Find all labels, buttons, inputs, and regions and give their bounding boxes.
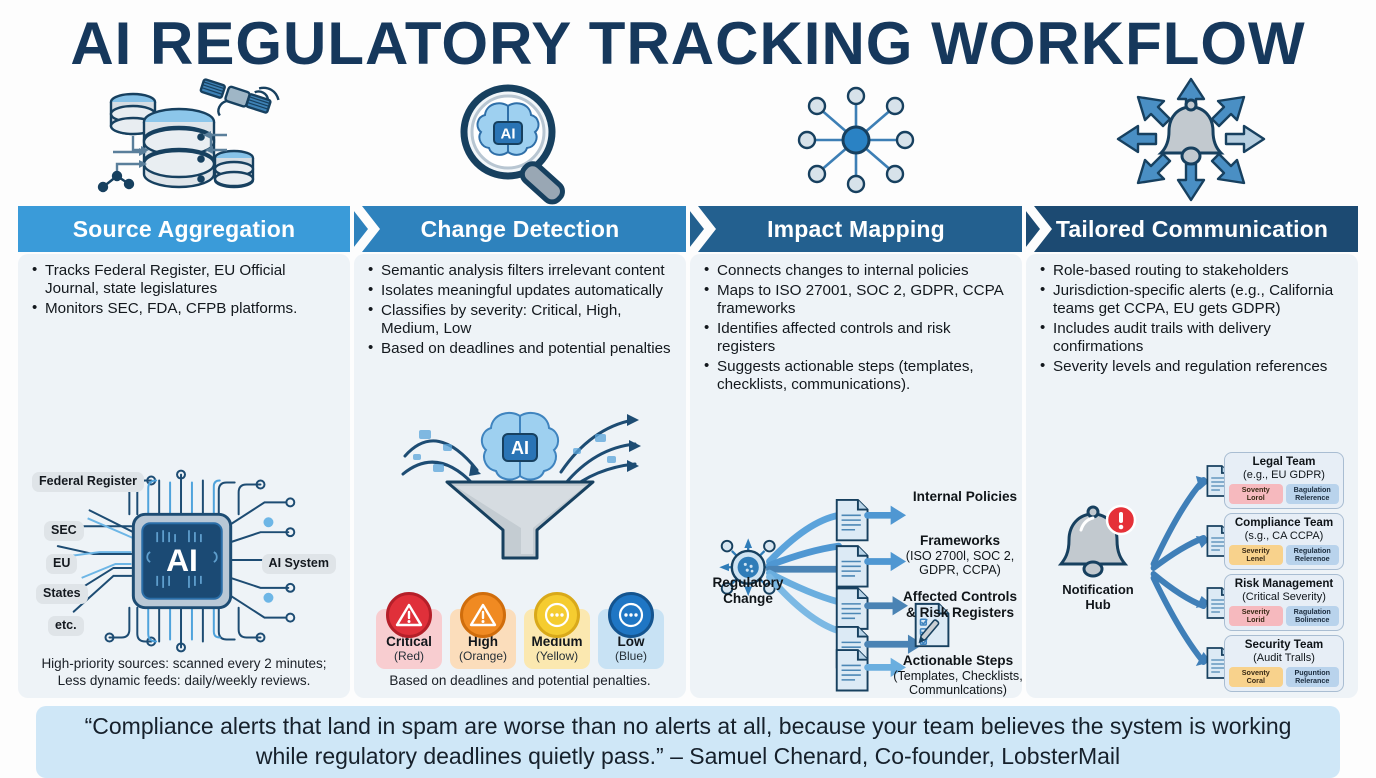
bullet-list-detection: Semantic analysis filters irrelevant con…	[366, 262, 674, 360]
impact-target-title: Internal Policies	[913, 489, 1017, 504]
panel-source-aggregation: Tracks Federal Register, EU Official Jou…	[18, 254, 350, 698]
team-card-security[interactable]: Security Team (Audit Tralls) Soventy Cor…	[1224, 635, 1344, 692]
impact-target-internal-policies: Internal Policies	[900, 489, 1022, 505]
status-badge-regulation: Puguntion Relerance	[1286, 667, 1340, 687]
list-item: Connects changes to internal policies	[702, 262, 1010, 280]
ai-chip-diagram: AI Federal Register SEC EU States	[30, 466, 338, 656]
chevron-right-icon	[686, 206, 720, 252]
tag-label: EU	[53, 556, 70, 570]
team-card-legal[interactable]: Legal Team (e.g., EU GDPR) Soventy Lorol…	[1224, 452, 1344, 509]
stage-header-row: Source Aggregation Change Detection Impa…	[18, 206, 1358, 252]
list-item: Based on deadlines and potential penalti…	[366, 340, 674, 358]
list-item: Severity levels and regulation reference…	[1038, 358, 1346, 376]
impact-target-title: Actionable Steps	[903, 653, 1013, 668]
tag-label: AI System	[269, 556, 329, 570]
severity-badge-row: Critical (Red) High (Orange)	[366, 609, 674, 669]
svg-text:AI: AI	[166, 542, 198, 578]
ellipsis-circle-icon	[534, 592, 580, 638]
source-visual: AI Federal Register SEC EU States	[30, 320, 338, 692]
team-title: Risk Management	[1229, 578, 1339, 591]
icon-cell-source	[18, 80, 353, 205]
impact-source-text: Regulatory Change	[712, 575, 783, 606]
communication-visual: Notification Hub Legal Team (e.g., EU GD…	[1038, 378, 1346, 692]
team-subtitle: (e.g., EU GDPR)	[1229, 469, 1339, 481]
panel-impact-mapping: Connects changes to internal policies Ma…	[690, 254, 1022, 698]
team-card-risk-management[interactable]: Risk Management (Critical Severity) Seve…	[1224, 574, 1344, 631]
impact-target-actionable-steps: Actionable Steps (Templates, Checklists,…	[884, 653, 1022, 698]
tag-label: Federal Register	[39, 474, 137, 488]
severity-high[interactable]: High (Orange)	[450, 609, 516, 669]
source-tag-eu[interactable]: EU	[46, 554, 77, 574]
status-badge-severity: Severity Lorid	[1229, 606, 1283, 626]
bell-alert-icon	[1059, 563, 1137, 580]
list-item: Semantic analysis filters irrelevant con…	[366, 262, 674, 280]
funnel-svg: AI	[385, 410, 655, 560]
status-badge-severity: Soventy Lorol	[1229, 484, 1283, 504]
severity-color-label: (Yellow)	[526, 650, 588, 664]
source-caption: High-priority sources: scanned every 2 m…	[30, 656, 338, 692]
database-aggregation-icon	[91, 80, 281, 205]
routing-diagram: Notification Hub Legal Team (e.g., EU GD…	[1038, 452, 1346, 692]
stage-header-label: Source Aggregation	[73, 216, 296, 243]
list-item: Includes audit trails with delivery conf…	[1038, 320, 1346, 356]
team-badges: Soventy Lorol Bagulation Relerence	[1229, 484, 1339, 504]
bell-broadcast-icon	[1116, 77, 1266, 207]
team-title: Legal Team	[1229, 456, 1339, 469]
warning-triangle-icon	[460, 592, 506, 638]
panel-tailored-communication: Role-based routing to stakeholders Juris…	[1026, 254, 1358, 698]
source-tag-sec[interactable]: SEC	[44, 521, 84, 541]
source-tag-states[interactable]: States	[36, 584, 88, 604]
team-title: Compliance Team	[1229, 517, 1339, 530]
status-badge-regulation: Ragulation Bolinence	[1286, 606, 1340, 626]
detection-visual: AI Critical (Red)	[366, 360, 674, 692]
magnifier-ai-brain-icon: AI	[446, 80, 596, 205]
severity-critical[interactable]: Critical (Red)	[376, 609, 442, 669]
list-item: Isolates meaningful updates automaticall…	[366, 282, 674, 300]
svg-text:AI: AI	[511, 438, 529, 458]
list-item: Jurisdiction-specific alerts (e.g., Cali…	[1038, 282, 1346, 318]
status-badge-severity: Soventy Coral	[1229, 667, 1283, 687]
chevron-right-icon	[1022, 206, 1056, 252]
status-badge-regulation: Bagulation Relerence	[1286, 484, 1340, 504]
team-badges: Severity Lenel Regulation Relerenoe	[1229, 545, 1339, 565]
panel-change-detection: Semantic analysis filters irrelevant con…	[354, 254, 686, 698]
stage-header-label: Impact Mapping	[767, 216, 945, 243]
list-item: Role-based routing to stakeholders	[1038, 262, 1346, 280]
list-item: Tracks Federal Register, EU Official Jou…	[30, 262, 338, 298]
tag-label: SEC	[51, 523, 77, 537]
stage-header-label: Tailored Communication	[1056, 216, 1328, 243]
team-card-compliance[interactable]: Compliance Team (s.g., CA CCPA) Severity…	[1224, 513, 1344, 570]
tag-label: States	[43, 586, 81, 600]
stage-header-change-detection[interactable]: Change Detection	[354, 206, 686, 252]
top-icon-row: AI	[18, 78, 1358, 206]
stage-header-source-aggregation[interactable]: Source Aggregation	[18, 206, 350, 252]
tag-label: etc.	[55, 618, 77, 632]
source-tag-federal-register[interactable]: Federal Register	[32, 472, 144, 492]
impact-mapping-diagram: Regulatory Change Internal Policies Fram…	[702, 457, 1010, 692]
team-title: Security Team	[1229, 639, 1339, 652]
list-item: Monitors SEC, FDA, CFPB platforms.	[30, 300, 338, 318]
severity-color-label: (Blue)	[600, 650, 662, 664]
team-badges: Severity Lorid Ragulation Bolinence	[1229, 606, 1339, 626]
bullet-list-source: Tracks Federal Register, EU Official Jou…	[30, 262, 338, 320]
page-title: AI REGULATORY TRACKING WORKFLOW	[18, 0, 1358, 78]
stage-panel-row: Tracks Federal Register, EU Official Jou…	[18, 254, 1358, 698]
stage-header-impact-mapping[interactable]: Impact Mapping	[690, 206, 1022, 252]
status-badge-regulation: Regulation Relerenoe	[1286, 545, 1340, 565]
detection-caption: Based on deadlines and potential penalti…	[366, 673, 674, 692]
quote-banner: “Compliance alerts that land in spam are…	[36, 706, 1340, 778]
impact-visual: Regulatory Change Internal Policies Fram…	[702, 396, 1010, 692]
severity-medium[interactable]: Medium (Yellow)	[524, 609, 590, 669]
stage-header-tailored-communication[interactable]: Tailored Communication	[1026, 206, 1358, 252]
severity-color-label: (Red)	[378, 650, 440, 664]
svg-text:AI: AI	[500, 125, 515, 142]
icon-cell-impact	[688, 80, 1023, 205]
impact-target-sub: (ISO 2700l, SOC 2, GDPR, CCPA)	[892, 549, 1022, 578]
severity-low[interactable]: Low (Blue)	[598, 609, 664, 669]
team-subtitle: (Audit Tralls)	[1229, 652, 1339, 664]
impact-source-label: Regulatory Change	[702, 575, 794, 607]
list-item: Suggests actionable steps (templates, ch…	[702, 358, 1010, 394]
impact-target-title: Affected Controls & Risk Registers	[903, 589, 1017, 620]
source-tag-ai-system[interactable]: AI System	[262, 554, 336, 574]
bullet-list-impact: Connects changes to internal policies Ma…	[702, 262, 1010, 396]
icon-cell-communication	[1023, 77, 1358, 207]
network-nodes-icon	[791, 80, 921, 205]
impact-target-affected-controls: Affected Controls & Risk Registers	[890, 589, 1022, 621]
notification-hub-label: Notification Hub	[1044, 583, 1152, 613]
stage-header-label: Change Detection	[421, 216, 620, 243]
impact-target-frameworks: Frameworks (ISO 2700l, SOC 2, GDPR, CCPA…	[892, 533, 1022, 578]
severity-color-label: (Orange)	[452, 650, 514, 664]
list-item: Classifies by severity: Critical, High, …	[366, 302, 674, 338]
bullet-list-communication: Role-based routing to stakeholders Juris…	[1038, 262, 1346, 378]
chevron-right-icon	[350, 206, 384, 252]
team-subtitle: (s.g., CA CCPA)	[1229, 530, 1339, 542]
notification-hub[interactable]: Notification Hub	[1044, 504, 1152, 613]
ellipsis-circle-icon	[608, 592, 654, 638]
list-item: Maps to ISO 27001, SOC 2, GDPR, CCPA fra…	[702, 282, 1010, 318]
warning-triangle-icon	[386, 592, 432, 638]
team-badges: Soventy Coral Puguntion Relerance	[1229, 667, 1339, 687]
team-card-list: Legal Team (e.g., EU GDPR) Soventy Lorol…	[1224, 452, 1344, 692]
icon-cell-detection: AI	[353, 80, 688, 205]
list-item: Identifies affected controls and risk re…	[702, 320, 1010, 356]
impact-target-title: Frameworks	[920, 533, 1000, 548]
status-badge-severity: Severity Lenel	[1229, 545, 1283, 565]
ai-funnel-diagram: AI	[366, 360, 674, 610]
impact-target-sub: (Templates, Checklists, Communlcations)	[884, 669, 1022, 698]
source-tag-etc[interactable]: etc.	[48, 616, 84, 636]
team-subtitle: (Critical Severity)	[1229, 591, 1339, 603]
infographic-page: AI REGULATORY TRACKING WORKFLOW	[0, 0, 1376, 768]
